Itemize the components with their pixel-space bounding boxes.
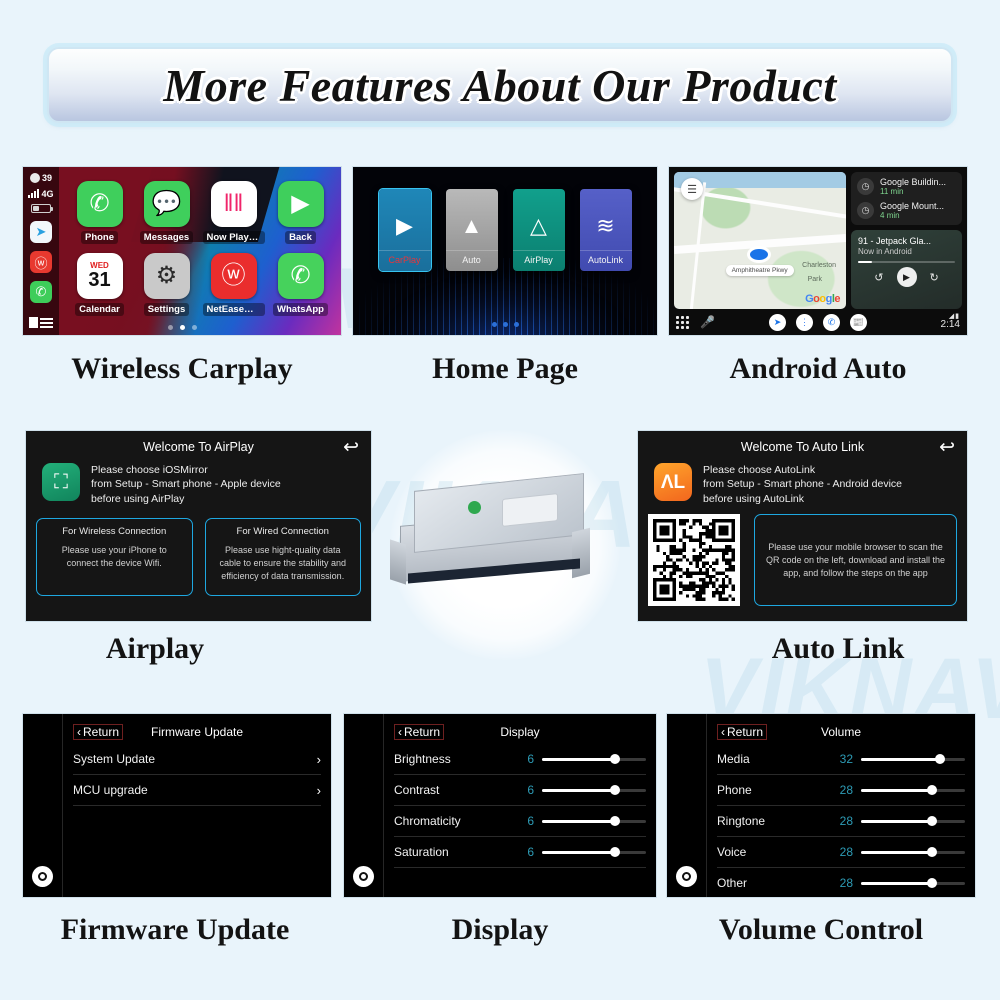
airplay-wireless-heading: For Wireless Connection	[45, 526, 184, 537]
row-slider[interactable]	[861, 877, 965, 889]
phone-icon[interactable]: ✆	[823, 314, 840, 331]
carplay-app-messages-icon[interactable]: 💬Messages	[134, 177, 199, 247]
qr-code	[648, 514, 740, 606]
home-card-label: Auto	[446, 250, 498, 271]
media-progress-bar[interactable]	[858, 261, 955, 263]
google-logo: Google	[805, 293, 840, 305]
android-auto-icon: ▲	[461, 201, 483, 250]
airplay-instruction: Please choose iOSMirror from Setup - Sma…	[91, 463, 281, 506]
display-screen[interactable]: ‹ Return Display Brightness6Contrast6Chr…	[343, 713, 657, 898]
volume-row-list[interactable]: Media32Phone28Ringtone28Voice28Other28	[717, 744, 965, 898]
product-photo	[390, 468, 620, 608]
row-value: 28	[831, 814, 853, 828]
product-rohs-badge	[468, 501, 481, 514]
suggestion-title: Google Buildin...	[880, 177, 946, 187]
airplay-screen[interactable]: Welcome To AirPlay ↩ ⛶ Please choose iOS…	[25, 430, 372, 622]
firmware-title: Firmware Update	[73, 725, 321, 739]
autolink-title: Welcome To Auto Link	[741, 440, 864, 454]
caption-wireless-carplay: Wireless Carplay	[22, 352, 342, 386]
firmware-row-list[interactable]: System Update›MCU upgrade›	[73, 744, 321, 806]
carplay-app-calendar-icon[interactable]: WED31Calendar	[67, 249, 132, 319]
clock-icon	[30, 173, 40, 183]
home-card-carplay[interactable]: ▶CarPlay	[379, 189, 431, 271]
airplay-icon: △	[530, 201, 547, 250]
caption-airplay: Airplay	[25, 632, 285, 666]
carplay-app-label: NetEaseMu...	[203, 303, 265, 316]
row-label: Voice	[717, 845, 831, 859]
page-title: More Features About Our Product	[163, 59, 836, 112]
page-title-banner: More Features About Our Product	[47, 47, 953, 123]
home-card-label: AutoLink	[580, 250, 632, 271]
carplay-network-label: 4G	[41, 189, 53, 199]
airplay-wireless-box: For Wireless Connection Please use your …	[36, 518, 193, 596]
page-dot[interactable]	[168, 325, 173, 330]
row-label: Brightness	[394, 752, 512, 766]
chevron-right-icon: ›	[317, 752, 321, 767]
google-maps-icon[interactable]: ➤	[769, 314, 786, 331]
display-row[interactable]: Saturation6	[394, 837, 646, 868]
carplay-app-label: Messages	[140, 231, 193, 244]
carplay-app-phone-icon[interactable]: ✆Phone	[67, 177, 132, 247]
map-park-label-line2: Park	[808, 276, 822, 283]
autolink-instruction: Please choose AutoLink from Setup - Smar…	[703, 463, 902, 506]
home-card-airplay[interactable]: △AirPlay	[513, 189, 565, 271]
carplay-app-label: Now Playing	[203, 231, 265, 244]
home-card-auto[interactable]: ▲Auto	[446, 189, 498, 271]
carplay-sidebar[interactable]: 39 4G ➤ ⓦ ✆	[23, 167, 59, 335]
volume-row[interactable]: Other28	[717, 868, 965, 898]
volume-row[interactable]: Phone28	[717, 775, 965, 806]
autolink-icon: ΛL	[654, 463, 692, 501]
android-auto-screen[interactable]: ☰ Amphitheatre Pkwy Charleston Park Goog…	[668, 166, 968, 336]
suggestion-title: Google Mount...	[880, 201, 944, 211]
sidebar-item-phone[interactable]: ✆	[30, 281, 52, 303]
messages-icon[interactable]: 💬	[144, 181, 190, 227]
carplay-app-label: Calendar	[75, 303, 124, 316]
firmware-update-screen[interactable]: ‹ Return Firmware Update System Update›M…	[22, 713, 332, 898]
android-auto-suggestions[interactable]: ◷Google Buildin...11 min◷Google Mount...…	[851, 172, 962, 225]
carplay-clock-value: 39	[42, 173, 52, 183]
display-title: Display	[394, 725, 646, 739]
product-left-bracket	[390, 539, 406, 584]
carplay-app-settings-icon[interactable]: ⚙Settings	[134, 249, 199, 319]
page-dot[interactable]	[180, 325, 185, 330]
row-slider[interactable]	[542, 753, 646, 765]
display-rail	[344, 714, 384, 897]
row-label: MCU upgrade	[73, 783, 317, 797]
row-value: 28	[831, 876, 853, 890]
row-slider[interactable]	[861, 846, 965, 858]
rewind-10-icon[interactable]: ↺	[874, 271, 883, 284]
home-circle-icon[interactable]	[676, 866, 697, 887]
caption-home-page: Home Page	[352, 352, 658, 386]
caption-volume-control: Volume Control	[666, 913, 976, 947]
row-label: Chromaticity	[394, 814, 512, 828]
airplay-wireless-body: Please use your iPhone to connect the de…	[45, 544, 184, 570]
taskbar-shortcuts[interactable]: ➤⋮✆📰	[669, 314, 967, 331]
home-card-label: AirPlay	[513, 250, 565, 271]
battery-icon	[31, 204, 51, 213]
android-auto-map[interactable]: ☰ Amphitheatre Pkwy Charleston Park Goog…	[674, 172, 846, 309]
google-assistant-icon[interactable]: ⋮	[796, 314, 813, 331]
suggestion-eta: 11 min	[880, 187, 946, 196]
current-location-puck	[750, 249, 768, 260]
signal-bars-icon	[28, 189, 39, 198]
autolink-screen[interactable]: Welcome To Auto Link ↩ ΛL Please choose …	[637, 430, 968, 622]
autolink-icon: ≋	[596, 201, 614, 250]
carplay-app-label: Settings	[144, 303, 189, 316]
back-arrow-icon[interactable]: ↩	[939, 438, 955, 457]
caption-autolink: Auto Link	[708, 632, 968, 666]
back-icon[interactable]: ▶	[278, 181, 324, 227]
caption-android-auto: Android Auto	[668, 352, 968, 386]
display-row[interactable]: Brightness6	[394, 744, 646, 775]
airplay-title: Welcome To AirPlay	[143, 440, 254, 454]
suggestion-row[interactable]: ◷Google Mount...4 min	[857, 201, 956, 220]
page-dot[interactable]	[514, 322, 519, 327]
carplay-clock: 39	[30, 171, 52, 184]
home-page-screen[interactable]: ▶CarPlay▲Auto△AirPlay≋AutoLink	[352, 166, 658, 336]
firmware-rail	[23, 714, 63, 897]
android-auto-taskbar[interactable]: 🎤 ➤⋮✆📰 ◢▮ 2:14	[669, 309, 967, 335]
now-playing-icon[interactable]: ‖‖	[211, 181, 257, 227]
row-label: Contrast	[394, 783, 512, 797]
volume-row[interactable]: Voice28	[717, 837, 965, 868]
row-value: 28	[831, 783, 853, 797]
android-auto-media-card[interactable]: 91 - Jetpack Gla... Now in Android ↺ ▶ ↻	[851, 230, 962, 309]
home-page-dots[interactable]	[353, 322, 657, 327]
home-circle-icon[interactable]	[353, 866, 374, 887]
display-row[interactable]: Chromaticity6	[394, 806, 646, 837]
suggestion-row[interactable]: ◷Google Buildin...11 min	[857, 177, 956, 196]
carplay-app-label: WhatsApp	[273, 303, 328, 316]
play-icon[interactable]: ▶	[897, 267, 917, 287]
airplay-wired-heading: For Wired Connection	[214, 526, 353, 537]
carplay-app-whatsapp-icon[interactable]: ✆WhatsApp	[268, 249, 333, 319]
row-label: System Update	[73, 752, 317, 766]
airplay-wired-body: Please use hight-quality data cable to e…	[214, 544, 353, 582]
phone-icon[interactable]: ✆	[77, 181, 123, 227]
whatsapp-icon[interactable]: ✆	[278, 253, 324, 299]
row-slider[interactable]	[861, 784, 965, 796]
clock-icon: ◷	[857, 202, 874, 219]
autolink-instruction-box: Please use your mobile browser to scan t…	[754, 514, 957, 606]
airplay-icon: ⛶	[42, 463, 80, 501]
autolink-box-body: Please use your mobile browser to scan t…	[763, 541, 948, 579]
search-menu-icon[interactable]: ☰	[681, 178, 703, 200]
row-value: 28	[831, 845, 853, 859]
firmware-row[interactable]: MCU upgrade›	[73, 775, 321, 806]
row-label: Ringtone	[717, 814, 831, 828]
row-label: Other	[717, 876, 831, 890]
volume-rail	[667, 714, 707, 897]
row-label: Saturation	[394, 845, 512, 859]
row-slider[interactable]	[542, 846, 646, 858]
back-arrow-icon[interactable]: ↩	[343, 438, 359, 457]
map-street-label: Amphitheatre Pkwy	[726, 265, 794, 276]
carplay-app-label: Back	[285, 231, 316, 244]
display-row[interactable]: Contrast6	[394, 775, 646, 806]
sidebar-item-telegram[interactable]: ➤	[30, 221, 52, 243]
carplay-page-dots[interactable]	[23, 325, 341, 330]
map-park-label-line1: Charleston	[802, 262, 836, 269]
volume-screen[interactable]: ‹ Return Volume Media32Phone28Ringtone28…	[666, 713, 976, 898]
row-label: Media	[717, 752, 831, 766]
row-slider[interactable]	[542, 815, 646, 827]
page-dot[interactable]	[192, 325, 197, 330]
row-value: 6	[512, 814, 534, 828]
media-subtitle: Now in Android	[858, 247, 955, 256]
carplay-app-grid[interactable]: ✆Phone💬Messages‖‖Now Playing▶BackWED31Ca…	[59, 167, 341, 335]
caption-firmware-update: Firmware Update	[10, 913, 340, 947]
calendar-icon[interactable]: WED31	[77, 253, 123, 299]
row-value: 6	[512, 845, 534, 859]
row-value: 6	[512, 783, 534, 797]
carplay-app-now-playing-icon[interactable]: ‖‖Now Playing	[201, 177, 266, 247]
chevron-right-icon: ›	[317, 783, 321, 798]
row-slider[interactable]	[861, 753, 965, 765]
carplay-app-back-icon[interactable]: ▶Back	[268, 177, 333, 247]
product-label-plate	[502, 493, 558, 527]
page-dot[interactable]	[503, 322, 508, 327]
home-card-autolink[interactable]: ≋AutoLink	[580, 189, 632, 271]
media-title: 91 - Jetpack Gla...	[858, 236, 955, 246]
row-label: Phone	[717, 783, 831, 797]
sidebar-item-netease[interactable]: ⓦ	[30, 251, 52, 273]
wireless-carplay-screen[interactable]: 39 4G ➤ ⓦ ✆ ✆Phone💬Messages‖‖Now Playing…	[22, 166, 342, 336]
netease-music-icon[interactable]: ⓦ	[211, 253, 257, 299]
carplay-signal: 4G	[28, 187, 53, 200]
row-slider[interactable]	[542, 784, 646, 796]
home-card-label: CarPlay	[379, 250, 431, 271]
caption-display: Display	[343, 913, 657, 947]
settings-icon[interactable]: ⚙	[144, 253, 190, 299]
row-value: 6	[512, 752, 534, 766]
forward-30-icon[interactable]: ↻	[930, 271, 939, 284]
clock-icon: ◷	[857, 178, 874, 195]
page-dot[interactable]	[492, 322, 497, 327]
display-row-list[interactable]: Brightness6Contrast6Chromaticity6Saturat…	[394, 744, 646, 868]
row-value: 32	[831, 752, 853, 766]
firmware-row[interactable]: System Update›	[73, 744, 321, 775]
product-right-bracket	[572, 528, 590, 578]
row-slider[interactable]	[861, 815, 965, 827]
carplay-app-label: Phone	[81, 231, 118, 244]
volume-row[interactable]: Media32	[717, 744, 965, 775]
home-circle-icon[interactable]	[32, 866, 53, 887]
news-icon[interactable]: 📰	[850, 314, 867, 331]
carplay-app-netease-music-icon[interactable]: ⓦNetEaseMu...	[201, 249, 266, 319]
volume-row[interactable]: Ringtone28	[717, 806, 965, 837]
volume-title: Volume	[717, 725, 965, 739]
carplay-icon: ▶	[396, 201, 413, 250]
suggestion-eta: 4 min	[880, 211, 944, 220]
home-card-row[interactable]: ▶CarPlay▲Auto△AirPlay≋AutoLink	[353, 189, 657, 271]
airplay-wired-box: For Wired Connection Please use hight-qu…	[205, 518, 362, 596]
